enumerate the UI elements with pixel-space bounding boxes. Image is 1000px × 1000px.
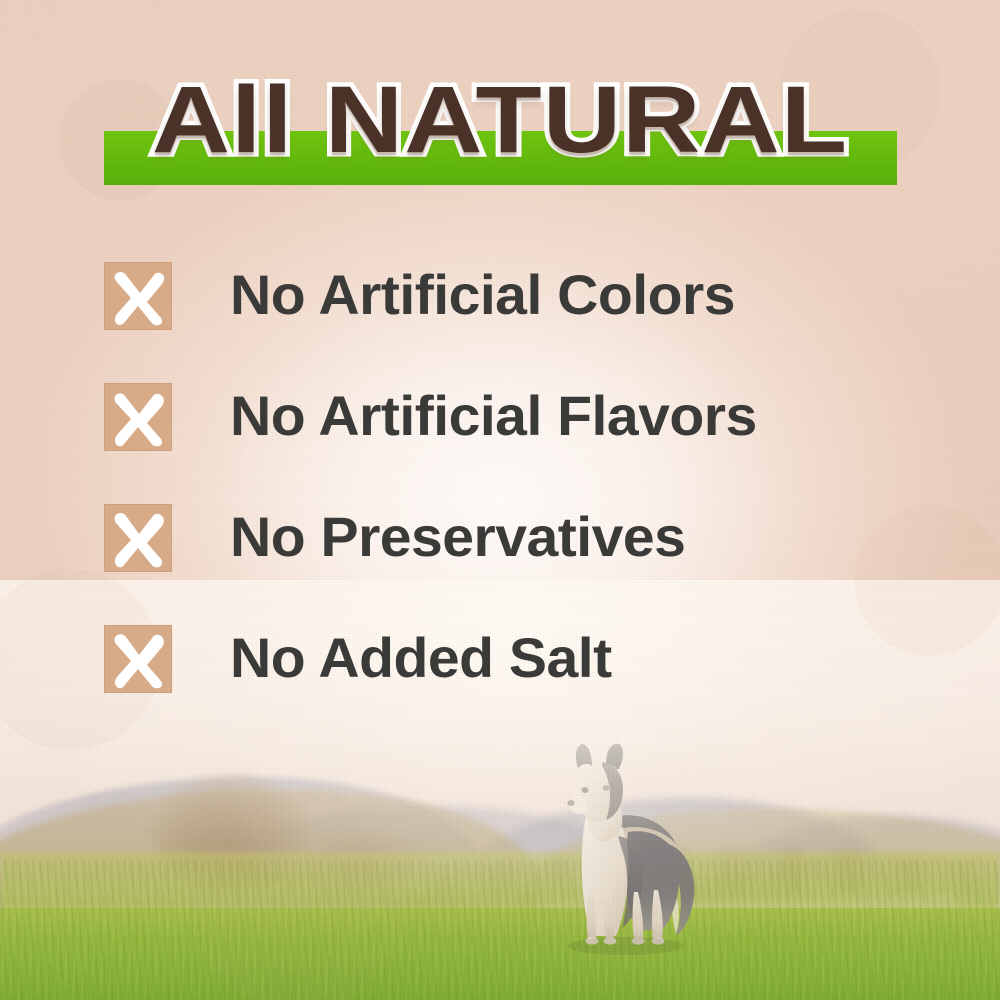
x-mark-icon (104, 625, 172, 693)
feature-item-no-artificial-flavors: No Artificial Flavors (104, 383, 924, 504)
border-collie-dog (540, 740, 710, 970)
x-mark-icon (104, 504, 172, 572)
feature-item-no-artificial-colors: No Artificial Colors (104, 262, 924, 383)
feature-graphic-canvas: All NATURAL No Artificial Colors No Arti… (0, 0, 1000, 1000)
headline-banner: All NATURAL (0, 60, 1000, 200)
feature-label: No Artificial Colors (230, 259, 735, 331)
feature-item-no-added-salt: No Added Salt (104, 625, 924, 746)
feature-item-no-preservatives: No Preservatives (104, 504, 924, 625)
feature-list: No Artificial Colors No Artificial Flavo… (104, 262, 924, 746)
feature-label: No Artificial Flavors (230, 380, 757, 452)
x-mark-icon (104, 262, 172, 330)
feature-label: No Preservatives (230, 501, 685, 573)
x-mark-icon (104, 383, 172, 451)
grass-texture (0, 860, 1000, 1000)
page-title: All NATURAL (0, 70, 1000, 170)
feature-label: No Added Salt (230, 622, 612, 694)
